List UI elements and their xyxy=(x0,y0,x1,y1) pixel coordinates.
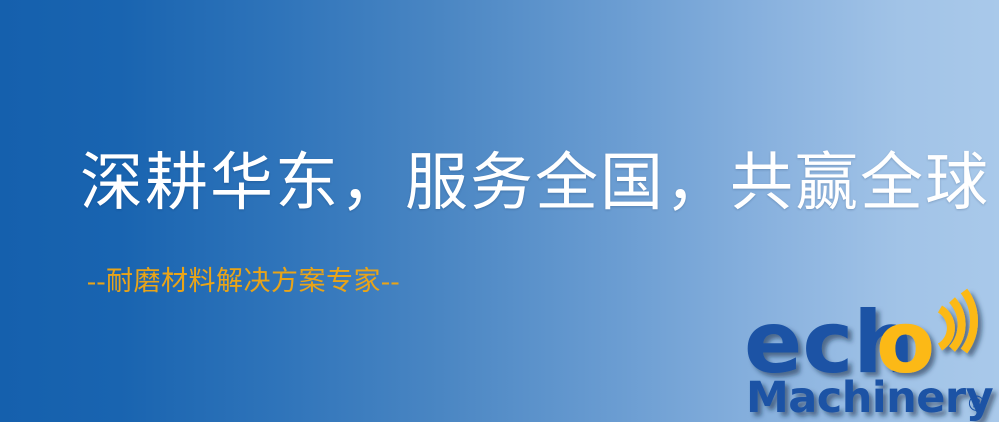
logo-artwork: ech o Machinery ® xyxy=(744,292,994,420)
echo-machinery-logo: ech o Machinery ® xyxy=(744,292,994,420)
banner-headline: 深耕华东，服务全国，共赢全球 xyxy=(80,152,990,215)
signal-arcs-icon xyxy=(940,291,974,351)
logo-tagline: Machinery xyxy=(746,373,994,422)
banner-subheadline: --耐磨材料解决方案专家-- xyxy=(87,268,400,295)
hero-banner: 深耕华东，服务全国，共赢全球 --耐磨材料解决方案专家-- ech o xyxy=(0,0,999,422)
registered-trademark-icon: ® xyxy=(966,392,987,416)
signal-arc-inner xyxy=(940,309,951,347)
signal-arc-outer xyxy=(964,291,974,351)
